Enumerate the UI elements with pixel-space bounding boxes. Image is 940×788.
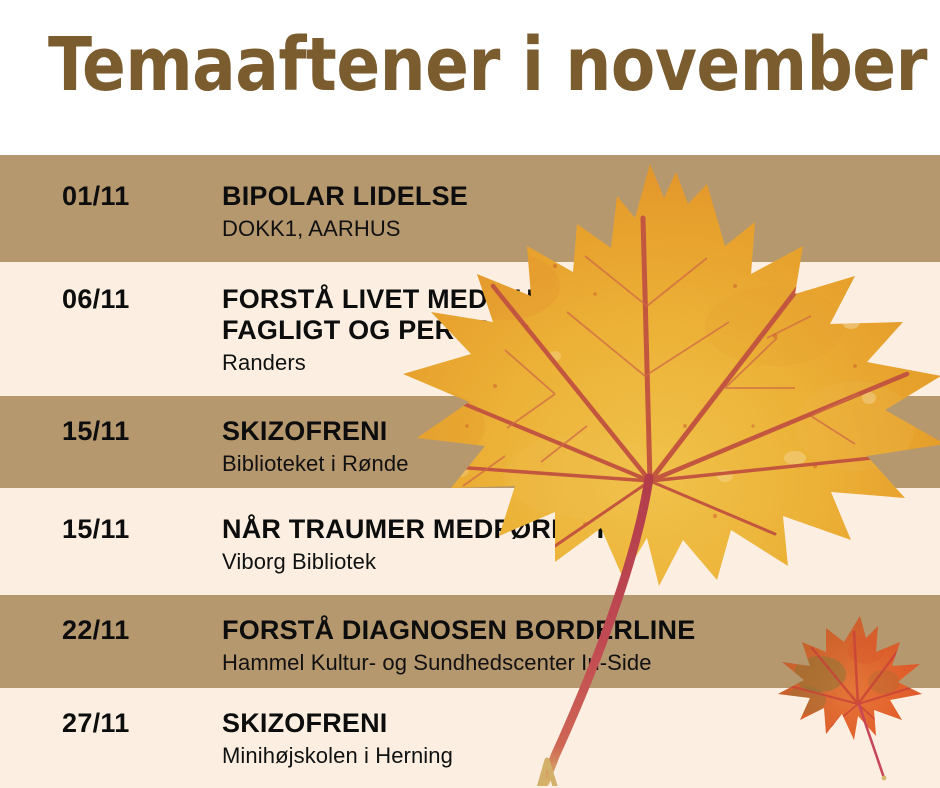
schedule-row-inner: 06/11FORSTÅ LIVET MED AUTISME UD FRA ET … xyxy=(0,262,940,396)
schedule-list: 01/11BIPOLAR LIDELSEDOKK1, AARHUS06/11FO… xyxy=(0,0,940,788)
schedule-row-venue: Hammel Kultur- og Sundhedscenter In-Side xyxy=(222,650,932,676)
schedule-row-texts: BIPOLAR LIDELSEDOKK1, AARHUS xyxy=(222,181,932,242)
schedule-row-date: 15/11 xyxy=(62,514,130,545)
schedule-row-inner: 15/11NÅR TRAUMER MEDFØRER PTSDViborg Bib… xyxy=(0,488,940,595)
schedule-row-date: 01/11 xyxy=(62,181,130,212)
schedule-row-venue: Viborg Bibliotek xyxy=(222,549,932,575)
schedule-row: 06/11FORSTÅ LIVET MED AUTISME UD FRA ET … xyxy=(0,262,940,396)
schedule-row-texts: FORSTÅ LIVET MED AUTISME UD FRA ET FAGLI… xyxy=(222,284,932,376)
schedule-row-texts: FORSTÅ DIAGNOSEN BORDERLINEHammel Kultur… xyxy=(222,615,932,676)
schedule-row-texts: SKIZOFRENIBiblioteket i Rønde xyxy=(222,416,932,477)
schedule-row: 01/11BIPOLAR LIDELSEDOKK1, AARHUS xyxy=(0,155,940,262)
schedule-row-venue: Randers xyxy=(222,350,932,376)
schedule-row: 15/11NÅR TRAUMER MEDFØRER PTSDViborg Bib… xyxy=(0,488,940,595)
schedule-row-inner: 27/11SKIZOFRENIMinihøjskolen i Herning xyxy=(0,688,940,788)
schedule-row-date: 22/11 xyxy=(62,615,130,646)
schedule-row-texts: NÅR TRAUMER MEDFØRER PTSDViborg Bibliote… xyxy=(222,514,932,575)
schedule-row-inner: 15/11SKIZOFRENIBiblioteket i Rønde xyxy=(0,396,940,488)
schedule-row-title: FORSTÅ LIVET MED AUTISME UD FRA ET FAGLI… xyxy=(222,284,932,346)
schedule-row-inner: 01/11BIPOLAR LIDELSEDOKK1, AARHUS xyxy=(0,155,940,262)
schedule-row-venue: DOKK1, AARHUS xyxy=(222,216,932,242)
schedule-row-inner: 22/11FORSTÅ DIAGNOSEN BORDERLINEHammel K… xyxy=(0,595,940,688)
schedule-row-date: 27/11 xyxy=(62,708,130,739)
schedule-row: 15/11SKIZOFRENIBiblioteket i Rønde xyxy=(0,396,940,488)
schedule-row-venue: Biblioteket i Rønde xyxy=(222,451,932,477)
schedule-row: 27/11SKIZOFRENIMinihøjskolen i Herning xyxy=(0,688,940,788)
schedule-row: 22/11FORSTÅ DIAGNOSEN BORDERLINEHammel K… xyxy=(0,595,940,688)
schedule-row-title: NÅR TRAUMER MEDFØRER PTSD xyxy=(222,514,932,545)
schedule-row-title: FORSTÅ DIAGNOSEN BORDERLINE xyxy=(222,615,932,646)
schedule-row-title: SKIZOFRENI xyxy=(222,416,932,447)
schedule-row-date: 06/11 xyxy=(62,284,130,315)
schedule-row-date: 15/11 xyxy=(62,416,130,447)
schedule-row-title: SKIZOFRENI xyxy=(222,708,932,739)
poster-canvas: Temaaftener i november 01/11BIPOLAR LIDE… xyxy=(0,0,940,788)
schedule-row-title: BIPOLAR LIDELSE xyxy=(222,181,932,212)
schedule-row-venue: Minihøjskolen i Herning xyxy=(222,743,932,769)
schedule-row-texts: SKIZOFRENIMinihøjskolen i Herning xyxy=(222,708,932,769)
